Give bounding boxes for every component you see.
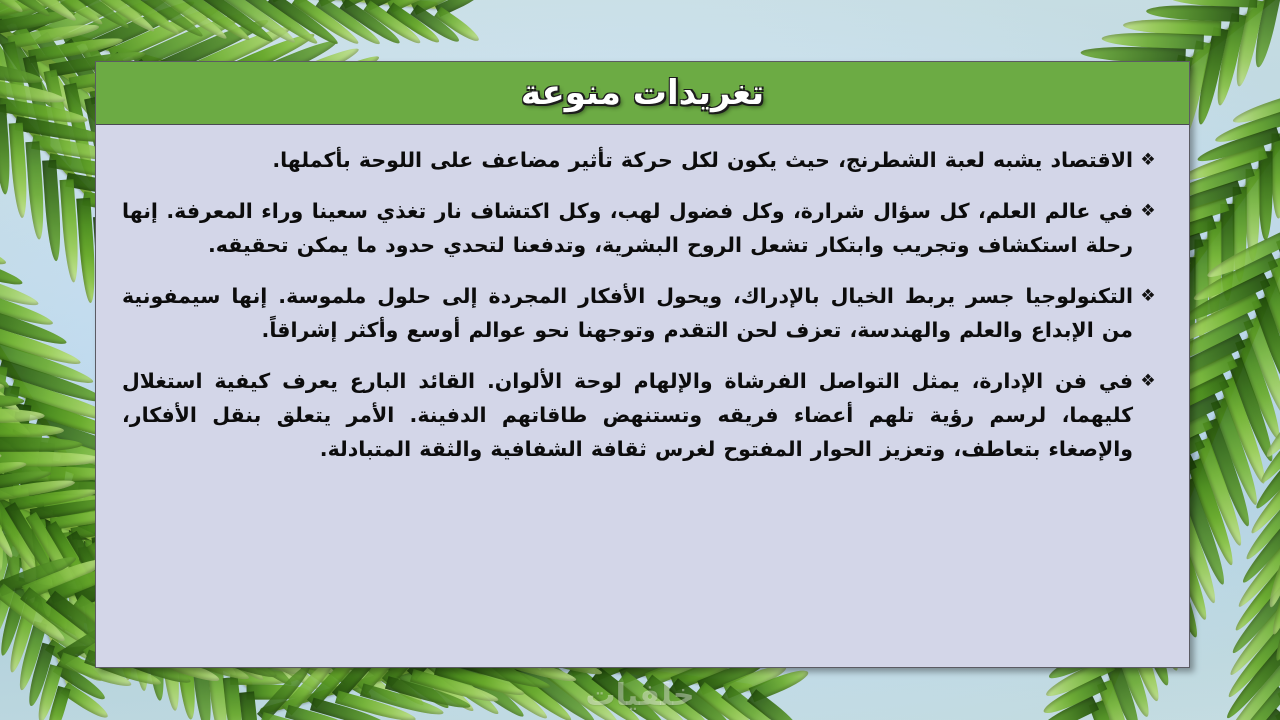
bullet-management: في فن الإدارة، يمثل التواصل الفرشاة والإ…	[122, 364, 1133, 466]
diamond-bullet-icon: ❖	[1133, 143, 1163, 177]
frond-leaflet	[1259, 151, 1273, 240]
list-item: ❖الاقتصاد يشبه لعبة الشطرنج، حيث يكون لك…	[122, 143, 1163, 177]
content-card: تغريدات منوعة ❖الاقتصاد يشبه لعبة الشطرن…	[95, 61, 1190, 668]
diamond-bullet-icon: ❖	[1133, 194, 1163, 228]
diamond-bullet-icon: ❖	[1133, 279, 1163, 313]
page-title: تغريدات منوعة	[521, 73, 764, 113]
frond-leaflet	[0, 246, 25, 290]
bullet-economy: الاقتصاد يشبه لعبة الشطرنج، حيث يكون لكل…	[122, 143, 1133, 177]
frond-leaflet	[0, 227, 8, 270]
palm-frond	[1269, 402, 1280, 720]
bullet-list: ❖الاقتصاد يشبه لعبة الشطرنج، حيث يكون لك…	[122, 143, 1163, 466]
list-item: ❖في عالم العلم، كل سؤال شرارة، وكل فضول …	[122, 194, 1163, 262]
bullet-technology: التكنولوجيا جسر يربط الخيال بالإدراك، وي…	[122, 279, 1133, 347]
diamond-bullet-icon: ❖	[1133, 364, 1163, 398]
frond-leaflet	[1272, 133, 1280, 218]
card-body: ❖الاقتصاد يشبه لعبة الشطرنج، حيث يكون لك…	[96, 125, 1189, 667]
bullet-science: في عالم العلم، كل سؤال شرارة، وكل فضول ل…	[122, 194, 1133, 262]
list-item: ❖التكنولوجيا جسر يربط الخيال بالإدراك، و…	[122, 279, 1163, 347]
presentation-slide: خلفيات تغريدات منوعة ❖الاقتصاد يشبه لعبة…	[0, 0, 1280, 720]
card-header: تغريدات منوعة	[96, 62, 1189, 125]
list-item: ❖في فن الإدارة، يمثل التواصل الفرشاة وال…	[122, 364, 1163, 466]
